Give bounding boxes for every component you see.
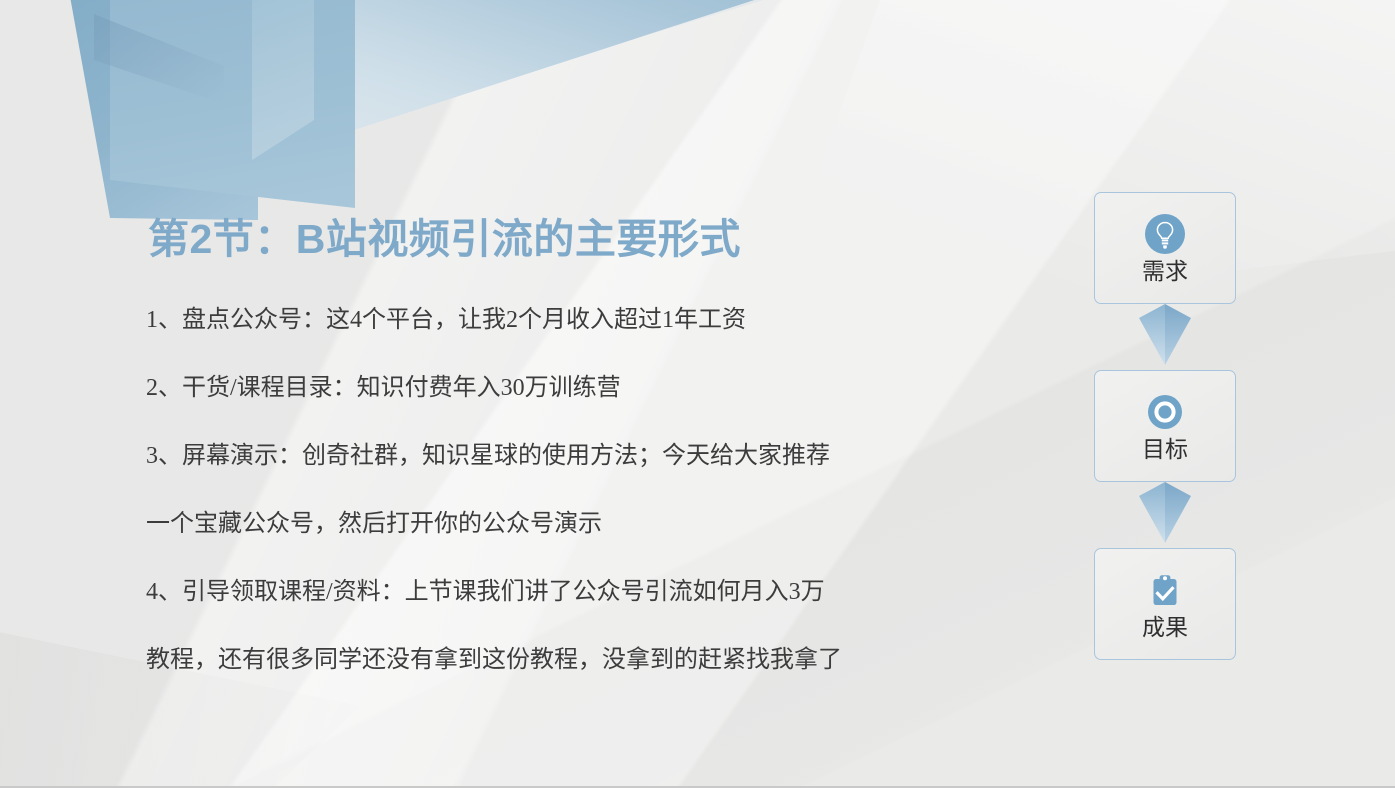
slide-canvas: 第2节：B站视频引流的主要形式 1、盘点公众号：这4个平台，让我2个月收入超过1… bbox=[0, 0, 1395, 788]
arrow-down-icon bbox=[1094, 304, 1236, 370]
clipboard-check-icon bbox=[1144, 569, 1186, 611]
body-line: 2、干货/课程目录：知识付费年入30万训练营 bbox=[146, 368, 1046, 436]
background-facet-top-right bbox=[760, 0, 1395, 330]
flow-card-label: 需求 bbox=[1142, 260, 1188, 283]
decoration-mid-panel bbox=[110, 0, 355, 210]
body-line: 4、引导领取课程/资料：上节课我们讲了公众号引流如何月入3万 bbox=[146, 572, 1046, 640]
flow-card-label: 成果 bbox=[1142, 616, 1188, 639]
flow-card-goal[interactable]: 目标 bbox=[1094, 370, 1236, 482]
decoration-left-wedge bbox=[58, 0, 258, 220]
flow-card-result[interactable]: 成果 bbox=[1094, 548, 1236, 660]
decoration-shadow-facet bbox=[94, 14, 224, 104]
arrow-down-icon bbox=[1094, 482, 1236, 548]
body-line: 一个宝藏公众号，然后打开你的公众号演示 bbox=[146, 504, 1046, 572]
flow-card-label: 目标 bbox=[1142, 438, 1188, 461]
process-flow-column: 需求 bbox=[1094, 192, 1236, 660]
body-text-block: 1、盘点公众号：这4个平台，让我2个月收入超过1年工资 2、干货/课程目录：知识… bbox=[146, 300, 1046, 708]
lightbulb-icon bbox=[1144, 213, 1186, 255]
page-title: 第2节：B站视频引流的主要形式 bbox=[148, 205, 741, 265]
decoration-notch bbox=[252, 0, 314, 160]
target-icon bbox=[1144, 391, 1186, 433]
decoration-pale-band bbox=[500, 0, 1060, 80]
flow-card-demand[interactable]: 需求 bbox=[1094, 192, 1236, 304]
body-line: 1、盘点公众号：这4个平台，让我2个月收入超过1年工资 bbox=[146, 300, 1046, 368]
body-line: 3、屏幕演示：创奇社群，知识星球的使用方法；今天给大家推荐 bbox=[146, 436, 1046, 504]
decoration-sweep-band bbox=[262, 0, 822, 160]
body-line: 教程，还有很多同学还没有拿到这份教程，没拿到的赶紧找我拿了 bbox=[146, 640, 1046, 708]
